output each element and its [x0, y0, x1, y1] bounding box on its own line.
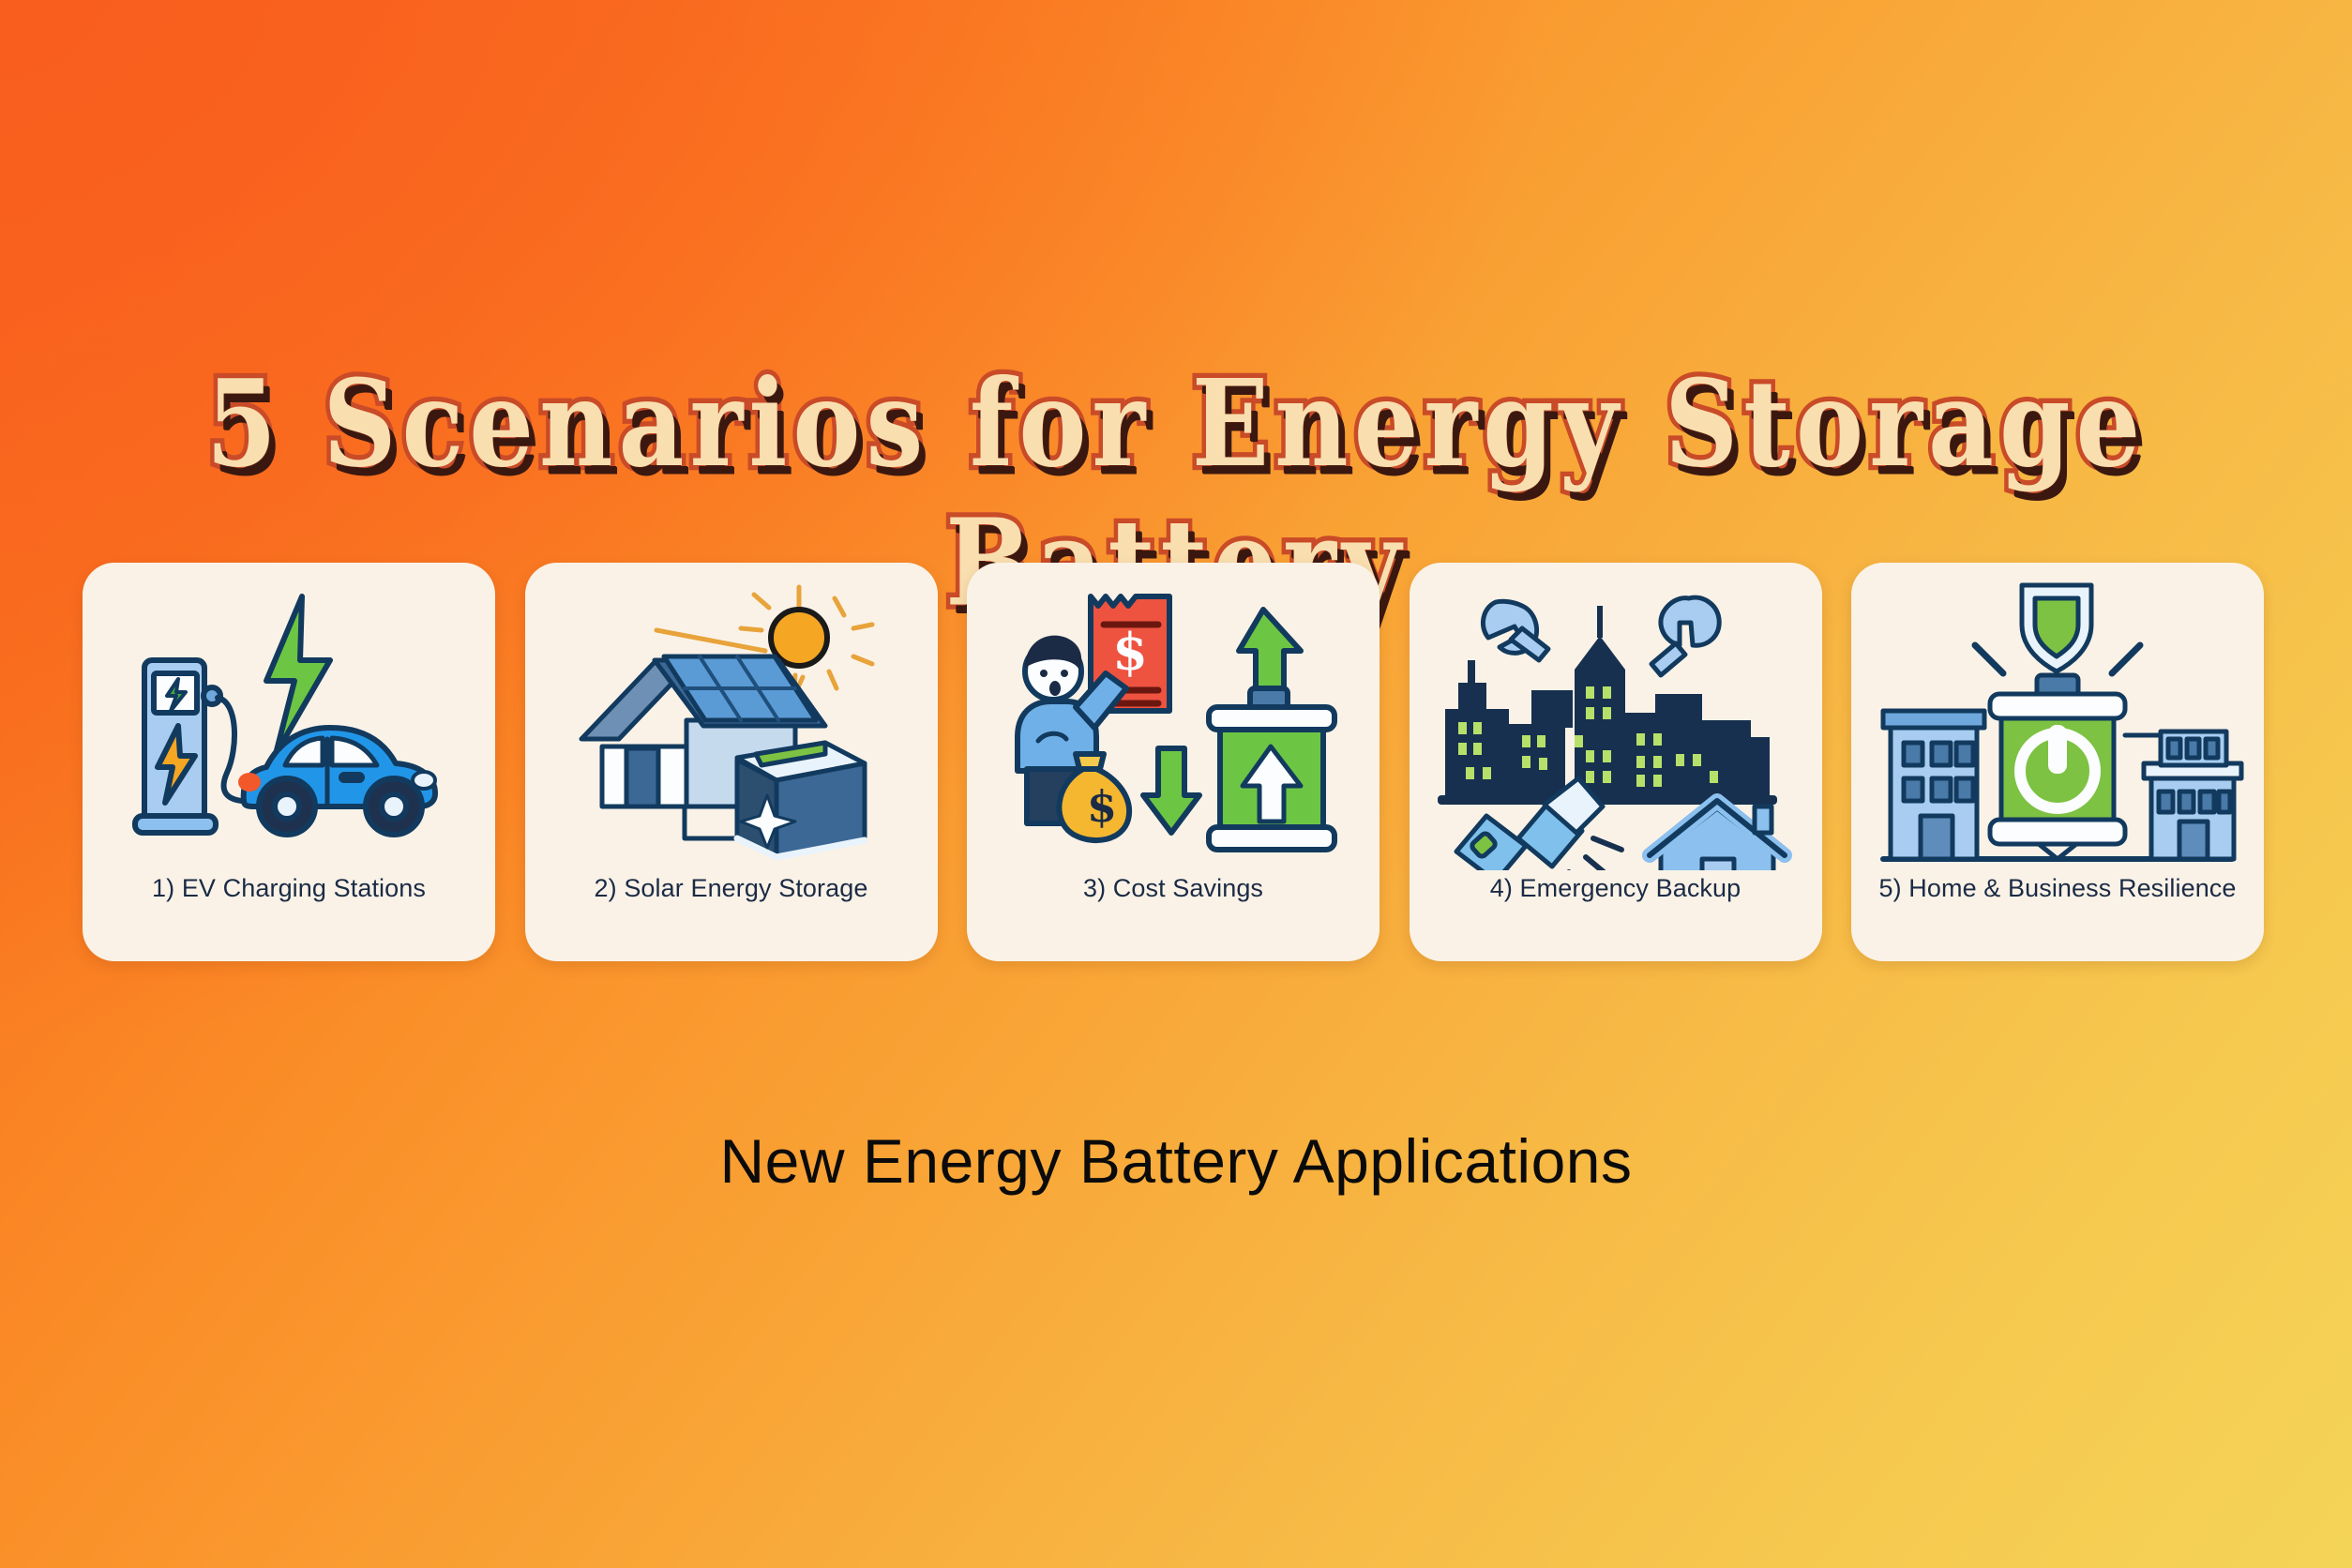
card-label: 1) EV Charging Stations: [152, 874, 426, 903]
scenario-card-home-business-resilience[interactable]: 5) Home & Business Resilience: [1851, 563, 2264, 961]
card-label: 4) Emergency Backup: [1490, 874, 1741, 903]
card-label: 2) Solar Energy Storage: [595, 874, 868, 903]
svg-text:$: $: [1087, 781, 1117, 832]
scenario-card-cost-savings[interactable]: $ $: [967, 563, 1380, 961]
solar-energy-storage-icon: [544, 570, 919, 870]
emergency-backup-icon: [1428, 570, 1803, 870]
scenario-card-emergency-backup[interactable]: 4) Emergency Backup: [1410, 563, 1822, 961]
home-business-resilience-icon: [1870, 570, 2245, 870]
scenario-card-ev-charging[interactable]: 1) EV Charging Stations: [83, 563, 495, 961]
scenario-card-row: 1) EV Charging Stations: [83, 563, 2264, 966]
scenario-card-solar-storage[interactable]: 2) Solar Energy Storage: [525, 563, 938, 961]
poster-canvas: 5 Scenarios for Energy Storage Battery: [0, 0, 2352, 1568]
card-label: 3) Cost Savings: [1083, 874, 1263, 903]
poster-title-container: 5 Scenarios for Energy Storage Battery: [0, 354, 2352, 591]
ev-charging-station-icon: [101, 570, 476, 870]
cost-savings-icon: $ $: [986, 570, 1361, 870]
poster-caption: New Energy Battery Applications: [0, 1125, 2352, 1197]
card-label: 5) Home & Business Resilience: [1878, 874, 2236, 903]
svg-text:$: $: [1112, 622, 1148, 682]
